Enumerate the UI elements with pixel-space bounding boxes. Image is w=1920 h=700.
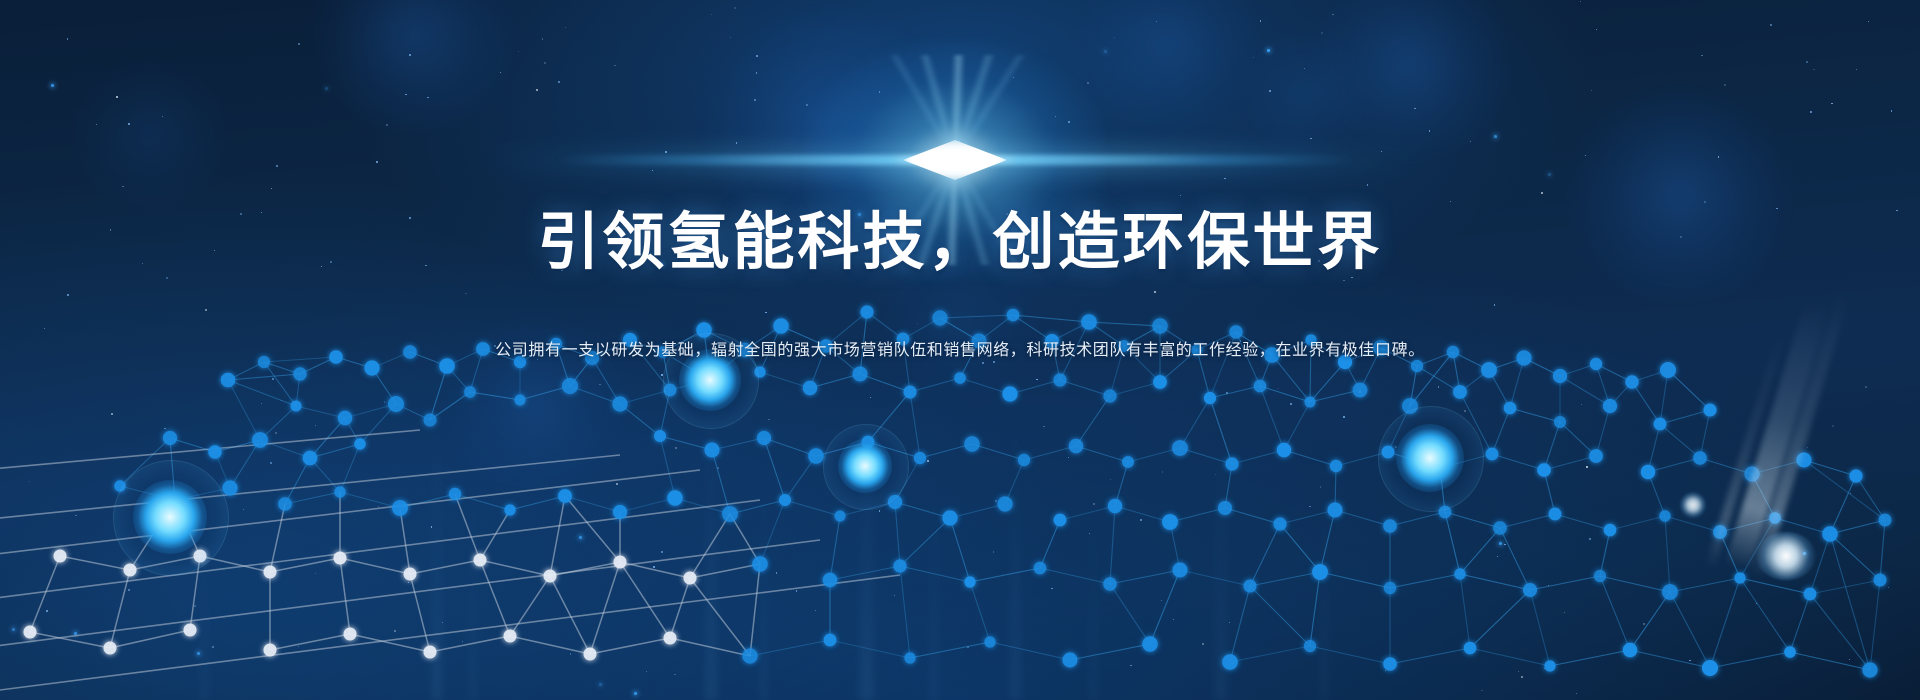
mesh-node — [664, 384, 677, 397]
mesh-node — [464, 386, 476, 398]
mesh-node — [1312, 564, 1328, 580]
mesh-line — [970, 582, 990, 642]
mesh-line — [592, 358, 620, 404]
mesh-line — [130, 556, 200, 570]
mesh-line — [410, 560, 480, 574]
mesh-line — [340, 444, 360, 492]
mesh-line — [840, 502, 895, 516]
mesh-node — [757, 431, 771, 445]
mesh-line — [340, 492, 400, 508]
mesh-node — [54, 550, 67, 563]
mesh-node — [1549, 508, 1562, 521]
mesh-line — [764, 438, 785, 500]
mesh-line — [830, 516, 840, 580]
mesh-line — [1040, 520, 1060, 568]
mesh-node — [1704, 404, 1717, 417]
mesh-line — [1544, 456, 1596, 470]
mesh-line — [1856, 476, 1885, 520]
mesh-node — [754, 366, 765, 377]
mesh-line — [410, 574, 430, 652]
mesh-line — [1670, 578, 1740, 592]
mesh-node — [614, 556, 627, 569]
mesh-line — [510, 496, 565, 510]
mesh-node — [703, 373, 718, 388]
mesh-node — [664, 632, 677, 645]
mesh-line — [430, 366, 447, 420]
mesh-line — [712, 438, 764, 450]
mesh-line — [1470, 648, 1550, 666]
mesh-line — [565, 496, 620, 512]
mesh-line — [900, 518, 950, 566]
mesh-node — [1122, 456, 1134, 468]
mesh-line — [1700, 458, 1752, 474]
mesh-line — [510, 576, 550, 636]
mesh-line — [120, 486, 175, 500]
mesh-line — [1115, 506, 1170, 522]
mesh-line — [1560, 422, 1596, 456]
mesh-line — [1225, 508, 1280, 524]
mesh-line — [480, 560, 510, 636]
mesh-line — [1600, 530, 1610, 576]
mesh-line — [900, 566, 970, 582]
mesh-line — [0, 540, 820, 648]
mesh-line — [764, 438, 816, 456]
mesh-node — [1383, 657, 1397, 671]
mesh-node — [1162, 514, 1178, 530]
mesh-node — [504, 630, 517, 643]
mesh-line — [1668, 370, 1710, 410]
mesh-line — [1210, 398, 1232, 464]
mesh-line — [1804, 460, 1885, 520]
mesh-node — [888, 495, 902, 509]
mesh-node — [1453, 385, 1467, 399]
mesh-node — [1018, 454, 1030, 466]
mesh-line — [895, 502, 950, 518]
mesh-line — [1500, 528, 1530, 590]
mesh-line — [1544, 470, 1555, 514]
mesh-line — [340, 558, 410, 574]
mesh-node — [1849, 469, 1862, 482]
mesh-node — [24, 626, 37, 639]
mesh-line — [830, 566, 900, 580]
mesh-line — [310, 444, 360, 458]
mesh-node — [1382, 446, 1395, 459]
mesh-node — [1693, 451, 1707, 465]
mesh-line — [455, 494, 480, 560]
mesh-line — [360, 404, 396, 444]
mesh-line — [970, 568, 1040, 582]
page-subtitle: 公司拥有一支以研发为基础，辐射全国的强大市场营销队伍和销售网络，科研技术团队有丰… — [0, 336, 1920, 360]
mesh-node — [439, 358, 455, 374]
mesh-line — [990, 642, 1070, 660]
mesh-line — [1280, 524, 1320, 572]
mesh-line — [1210, 386, 1260, 398]
mesh-node — [862, 436, 875, 449]
mesh-line — [1388, 452, 1440, 468]
mesh-node — [1172, 440, 1188, 456]
mesh-node — [1383, 519, 1397, 533]
mesh-line — [1775, 518, 1830, 534]
mesh-line — [1492, 454, 1544, 470]
mesh-node — [1822, 526, 1837, 541]
mesh-node — [904, 652, 915, 663]
mesh-node — [1553, 369, 1567, 383]
mesh-line — [1024, 446, 1076, 460]
mesh-line — [950, 518, 970, 582]
mesh-node — [932, 310, 947, 325]
mesh-node — [1554, 416, 1566, 428]
mesh-node — [1081, 314, 1097, 330]
mesh-node — [424, 646, 437, 659]
mesh-line — [190, 556, 200, 630]
mesh-line — [1060, 380, 1110, 396]
mesh-line — [400, 508, 410, 574]
mesh-node — [1589, 449, 1603, 463]
mesh-node — [291, 401, 302, 412]
mesh-node — [1659, 510, 1670, 521]
mesh-line — [1110, 570, 1180, 584]
mesh-node — [904, 386, 917, 399]
mesh-node — [705, 443, 720, 458]
mesh-node — [1034, 562, 1047, 575]
mesh-line — [895, 458, 920, 502]
mesh-node — [1153, 375, 1167, 389]
mesh-node — [293, 367, 306, 380]
mesh-node — [334, 552, 347, 565]
mesh-node — [853, 367, 868, 382]
mesh-line — [430, 392, 470, 420]
mesh-node — [124, 564, 137, 577]
mesh-node — [835, 511, 846, 522]
mesh-node — [654, 430, 666, 442]
mesh-line — [760, 500, 785, 564]
mesh-line — [1320, 510, 1335, 572]
mesh-node-group — [24, 305, 1892, 677]
mesh-node — [1523, 583, 1537, 597]
mesh-line — [480, 560, 550, 576]
mesh-node — [1481, 362, 1497, 378]
mesh-line — [1510, 408, 1560, 422]
mesh-node — [222, 480, 237, 495]
mesh-line — [1810, 534, 1830, 594]
mesh-line — [1648, 424, 1660, 472]
mesh-line — [120, 438, 170, 486]
mesh-line — [228, 380, 260, 440]
mesh-node — [667, 490, 682, 505]
mesh-line — [110, 630, 190, 648]
mesh-line — [1150, 570, 1180, 644]
mesh-node — [1277, 443, 1291, 457]
mesh-node — [264, 566, 277, 579]
mesh-line — [285, 458, 310, 504]
mesh-node — [1273, 517, 1286, 530]
mesh-line — [1555, 514, 1610, 530]
mesh-node — [1411, 360, 1423, 372]
mesh-line — [1284, 450, 1336, 466]
mesh-node — [1879, 514, 1892, 527]
mesh-node — [334, 486, 345, 497]
mesh-line — [1740, 578, 1810, 594]
mesh-line — [1250, 524, 1280, 586]
mesh-node — [1464, 642, 1477, 655]
mesh-line — [1272, 355, 1310, 402]
page-title: 引领氢能科技，创造环保世界 — [0, 204, 1920, 282]
mesh-line — [175, 500, 200, 556]
mesh-line — [1390, 574, 1460, 588]
mesh-line — [860, 374, 910, 392]
mesh-node — [1204, 392, 1216, 404]
mesh-line — [1665, 516, 1670, 592]
mesh-line — [565, 496, 620, 562]
mesh-line — [730, 514, 760, 564]
mesh-node — [954, 372, 966, 384]
mesh-node — [824, 634, 837, 647]
mesh-node — [1007, 309, 1020, 322]
mesh-line — [1810, 580, 1880, 594]
mesh-line — [895, 502, 900, 566]
mesh-line — [1310, 646, 1390, 664]
mesh-line — [1830, 534, 1880, 580]
mesh-node — [684, 572, 697, 585]
mesh-line — [1180, 398, 1210, 448]
mesh-line — [816, 442, 868, 456]
mesh-line — [510, 636, 590, 654]
mesh-node — [1402, 398, 1418, 414]
mesh-line — [1830, 534, 1870, 670]
mesh-line — [920, 444, 972, 458]
mesh-node — [1054, 514, 1067, 527]
mesh-line — [1250, 586, 1310, 646]
mesh-line — [1660, 424, 1700, 458]
mesh-line — [972, 444, 1024, 460]
mesh-node — [1069, 439, 1083, 453]
mesh-node — [1660, 362, 1676, 378]
mesh-line — [1076, 446, 1128, 462]
mesh-line — [1013, 315, 1089, 322]
mesh-node — [1330, 460, 1342, 472]
mesh-node — [1486, 448, 1499, 461]
mesh-line — [1040, 568, 1110, 584]
mesh-line — [1710, 652, 1790, 668]
mesh-node — [1103, 577, 1116, 590]
mesh-node — [1544, 660, 1555, 671]
mesh-node — [184, 624, 197, 637]
mesh-node — [1439, 506, 1452, 519]
mesh-line — [170, 438, 175, 500]
mesh-line — [750, 640, 830, 656]
mesh-node — [752, 556, 768, 572]
mesh-node — [338, 411, 352, 425]
mesh-line — [1320, 572, 1390, 588]
mesh-node — [1002, 386, 1017, 401]
mesh-node — [449, 488, 461, 500]
mesh-node — [169, 494, 182, 507]
mesh-line — [1310, 362, 1345, 402]
mesh-node — [1594, 570, 1606, 582]
mesh-line — [340, 558, 350, 634]
mesh-node — [388, 396, 404, 412]
mesh-line — [1752, 460, 1804, 474]
mesh-node — [1702, 660, 1718, 676]
mesh-line — [868, 392, 910, 442]
mesh-line — [1560, 376, 1610, 406]
mesh-line — [1230, 586, 1250, 662]
mesh-line — [1530, 590, 1550, 666]
mesh-node — [584, 648, 597, 661]
mesh-line — [1870, 580, 1880, 670]
mesh-node — [1537, 463, 1551, 477]
mesh-line — [1665, 516, 1720, 532]
mesh-node — [194, 550, 207, 563]
mesh-line — [1230, 646, 1310, 662]
mesh-line — [620, 562, 670, 638]
mesh-node — [1874, 574, 1887, 587]
mesh-line — [670, 578, 690, 638]
mesh-line — [1284, 402, 1310, 450]
mesh-line — [1445, 512, 1500, 528]
mesh-node — [1784, 646, 1796, 658]
mesh-line — [1544, 422, 1560, 470]
mesh-line — [1180, 448, 1232, 464]
mesh-node — [1304, 640, 1316, 652]
mesh-line — [910, 378, 960, 392]
mesh-node — [515, 395, 526, 406]
mesh-node — [773, 318, 788, 333]
mesh-line — [470, 392, 520, 400]
mesh-line — [1310, 572, 1320, 646]
mesh-line — [1460, 574, 1530, 590]
mesh-node — [404, 568, 417, 581]
mesh-node — [1305, 397, 1316, 408]
mesh-line — [1600, 576, 1670, 592]
mesh-node — [1862, 662, 1877, 677]
mesh-line — [1720, 518, 1775, 532]
mesh-node — [1744, 466, 1759, 481]
mesh-line — [950, 504, 1005, 518]
mesh-node — [1173, 563, 1188, 578]
mesh-line — [1060, 506, 1115, 520]
mesh-node — [612, 396, 627, 411]
mesh-node — [1142, 636, 1157, 651]
mesh-node — [1604, 524, 1617, 537]
mesh-line — [60, 556, 130, 570]
mesh-line — [1700, 410, 1710, 458]
mesh-line — [1335, 510, 1390, 526]
mesh-node — [1454, 568, 1465, 579]
mesh-line — [1648, 458, 1700, 472]
mesh-line — [430, 636, 510, 652]
mesh-line — [785, 456, 816, 500]
mesh-line — [660, 390, 670, 436]
mesh-line — [1804, 460, 1856, 476]
mesh-node — [1103, 389, 1116, 402]
mesh-line — [1660, 410, 1710, 424]
mesh-node — [278, 497, 292, 511]
mesh-line — [1336, 452, 1388, 466]
mesh-line — [1070, 644, 1150, 660]
mesh-line — [0, 500, 760, 600]
mesh-node — [208, 445, 221, 458]
mesh-node — [264, 644, 277, 657]
mesh-line — [1310, 390, 1360, 402]
mesh-line — [550, 496, 565, 576]
mesh-node — [1769, 512, 1781, 524]
mesh-line — [620, 498, 675, 512]
mesh-line — [1510, 358, 1524, 408]
mesh-line — [1550, 650, 1630, 666]
mesh-line — [760, 372, 810, 388]
mesh-node — [1218, 501, 1232, 515]
mesh-line — [590, 562, 620, 654]
mesh-node — [221, 373, 236, 388]
mesh-node — [1108, 499, 1122, 513]
mesh-line — [1232, 450, 1284, 464]
mesh-line — [620, 404, 660, 436]
mesh-line — [1280, 510, 1335, 524]
mesh-node — [803, 381, 817, 395]
mesh-node — [742, 648, 757, 663]
mesh-line — [1740, 578, 1790, 652]
mesh-line — [900, 566, 910, 658]
mesh-line — [940, 315, 1013, 318]
mesh-line — [1110, 382, 1160, 396]
mesh-line — [1390, 512, 1445, 526]
mesh-line — [1830, 520, 1885, 534]
mesh-line — [690, 564, 760, 578]
mesh-line — [30, 556, 60, 632]
mesh-line — [1390, 648, 1470, 664]
mesh-node — [1225, 457, 1238, 470]
mesh-node — [984, 636, 995, 647]
mesh-node — [392, 500, 408, 516]
mesh-line — [296, 406, 345, 418]
mesh-line — [1260, 386, 1284, 450]
mesh-line — [1089, 322, 1160, 326]
mesh-line — [1492, 408, 1510, 454]
mesh-line — [690, 514, 730, 578]
mesh-node — [252, 432, 268, 448]
mesh-line — [660, 436, 675, 498]
mesh-node — [997, 496, 1012, 511]
mesh-line — [1110, 506, 1115, 584]
mesh-line — [750, 564, 760, 656]
mesh-node — [1641, 465, 1655, 479]
mesh-line — [910, 642, 990, 658]
mesh-node — [544, 570, 557, 583]
mesh-line — [1670, 592, 1710, 668]
mesh-node — [914, 452, 926, 464]
mesh-line — [590, 638, 670, 654]
mesh-node — [1625, 375, 1638, 388]
mesh-node — [964, 436, 979, 451]
mesh-node — [104, 642, 117, 655]
mesh-line — [1128, 448, 1180, 462]
mesh-node — [942, 510, 957, 525]
mesh-line — [285, 492, 340, 504]
mesh-node — [1053, 373, 1066, 386]
mesh-node — [1662, 584, 1678, 600]
mesh-line — [1880, 520, 1885, 580]
mesh-line — [960, 378, 1010, 394]
mesh-line — [1600, 576, 1630, 650]
mesh-node — [1804, 588, 1817, 601]
mesh-line — [910, 392, 920, 458]
mesh-node — [504, 504, 515, 515]
mesh-node — [779, 494, 791, 506]
mesh-line — [0, 575, 900, 690]
mesh-line — [1180, 570, 1250, 586]
mesh-line — [1170, 508, 1225, 522]
